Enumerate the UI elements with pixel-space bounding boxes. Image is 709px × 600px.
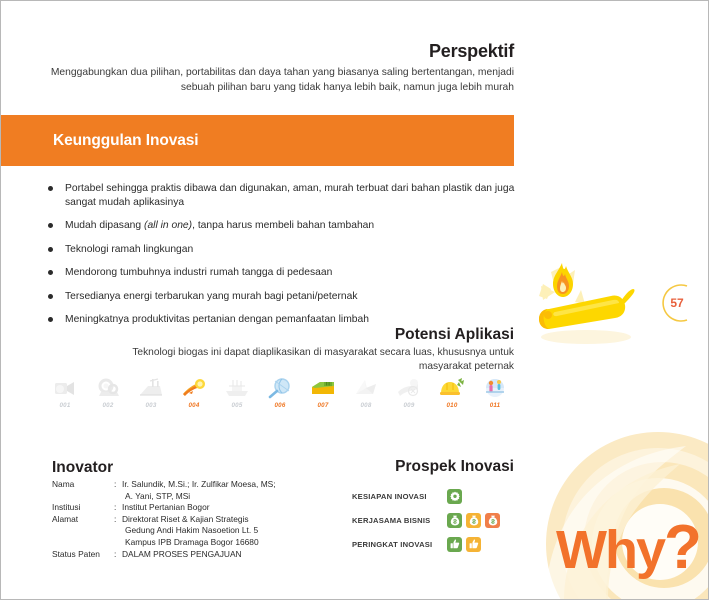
- prospek-row-label: PERINGKAT INOVASI: [352, 540, 447, 549]
- potensi-icon-number: 007: [303, 402, 343, 409]
- hardhat-recycle-icon: [432, 375, 472, 401]
- bullet-text: Meningkatnya produktivitas pertanian den…: [65, 314, 369, 325]
- thumbs-up-icon: [466, 537, 481, 552]
- money-bag-icon: [447, 513, 462, 528]
- potensi-icon-002: 002: [88, 375, 128, 415]
- inovator-row-label: [52, 491, 114, 503]
- inovator-row-separator: [114, 525, 122, 537]
- inovator-row-value: DALAM PROSES PENGAJUAN: [122, 549, 342, 561]
- inovator-row: Gedung Andi Hakim Nasoetion Lt. 5: [52, 525, 342, 537]
- inovator-row-separator: :: [114, 549, 122, 561]
- bullet-dot-icon: [48, 247, 53, 252]
- bullet-dot-icon: [48, 186, 53, 191]
- prospek-badge-group: [447, 489, 462, 504]
- inovator-row-value: Institut Pertanian Bogor: [122, 502, 342, 514]
- why-corner-graphic: Why?: [540, 422, 709, 600]
- potensi-icon-007: 007: [303, 375, 343, 415]
- potensi-icon-number: 005: [217, 402, 257, 409]
- page-number-value: 57: [656, 282, 698, 324]
- inovator-details-table: Nama:Ir. Salundik, M.Si.; Ir. Zulfikar M…: [52, 479, 342, 560]
- potensi-icon-003: 003: [131, 375, 171, 415]
- page-number: 57: [656, 282, 698, 324]
- perspektif-heading: Perspektif: [41, 41, 514, 62]
- inovator-row-separator: :: [114, 479, 122, 491]
- inovator-row-separator: [114, 491, 122, 503]
- potensi-icon-number: 010: [432, 402, 472, 409]
- potensi-icon-number: 003: [131, 402, 171, 409]
- prospek-row-label: KESIAPAN INOVASI: [352, 492, 447, 501]
- money-bag-icon: [485, 513, 500, 528]
- potensi-icon-005: 005: [217, 375, 257, 415]
- inovator-row-separator: [114, 537, 122, 549]
- potensi-icon-number: 001: [45, 402, 85, 409]
- people-community-icon: [475, 375, 515, 401]
- potensi-icon-number: 002: [88, 402, 128, 409]
- energy-comet-icon: [174, 375, 214, 401]
- prospek-row: PERINGKAT INOVASI: [352, 532, 517, 556]
- why-question-mark: ?: [664, 513, 700, 582]
- inovator-row-label: Status Paten: [52, 549, 114, 561]
- inovator-row-value: Ir. Salundik, M.Si.; Ir. Zulfikar Moesa,…: [122, 479, 342, 491]
- inovator-row: Alamat:Direktorat Riset & Kajian Strateg…: [52, 514, 342, 526]
- inovator-row: Institusi:Institut Pertanian Bogor: [52, 502, 342, 514]
- bullet-text: Teknologi ramah lingkungan: [65, 244, 193, 255]
- bullet-item: Mendorong tumbuhnya industri rumah tangg…: [45, 266, 515, 280]
- biogas-illustration: [529, 256, 649, 356]
- thumbs-up-icon: [447, 537, 462, 552]
- prospek-row: KESIAPAN INOVASI: [352, 484, 517, 508]
- inovator-row: A. Yani, STP, MSi: [52, 491, 342, 503]
- perspektif-paragraph: Menggabungkan dua pilihan, portabilitas …: [41, 65, 514, 95]
- documents-paper-icon: [346, 375, 386, 401]
- inovator-row: Status Paten:DALAM PROSES PENGAJUAN: [52, 549, 342, 561]
- ship-transport-icon: [217, 375, 257, 401]
- prospek-badge-group: [447, 537, 481, 552]
- potensi-icon-011: 011: [475, 375, 515, 415]
- bullet-item: Meningkatnya produktivitas pertanian den…: [45, 313, 515, 327]
- inovator-row-label: Institusi: [52, 502, 114, 514]
- prospek-rating-list: KESIAPAN INOVASIKERJASAMA BISNISPERINGKA…: [352, 484, 517, 556]
- bullet-dot-icon: [48, 294, 53, 299]
- potensi-icon-009: 009: [389, 375, 429, 415]
- agriculture-field-icon: [303, 375, 343, 401]
- gear-icon: [447, 489, 462, 504]
- inovator-row: Kampus IPB Dramaga Bogor 16680: [52, 537, 342, 549]
- bullet-dot-icon: [48, 317, 53, 322]
- potensi-icon-010: 010: [432, 375, 472, 415]
- magnifier-research-icon: [260, 375, 300, 401]
- prospek-badge-group: [447, 513, 500, 528]
- potensi-paragraph: Teknologi biogas ini dapat diaplikasikan…: [121, 346, 514, 374]
- inovator-row-separator: :: [114, 502, 122, 514]
- prospek-row: KERJASAMA BISNIS: [352, 508, 517, 532]
- inovator-row-label: Alamat: [52, 514, 114, 526]
- inovator-row-label: Nama: [52, 479, 114, 491]
- potensi-icon-008: 008: [346, 375, 386, 415]
- inovator-row: Nama:Ir. Salundik, M.Si.; Ir. Zulfikar M…: [52, 479, 342, 491]
- potensi-icon-number: 011: [475, 402, 515, 409]
- bullet-item: Portabel sehingga praktis dibawa dan dig…: [45, 182, 515, 209]
- prospek-row-label: KERJASAMA BISNIS: [352, 516, 447, 525]
- inovator-row-value: Gedung Andi Hakim Nasoetion Lt. 5: [122, 525, 342, 537]
- bullet-item: Tersedianya energi terbarukan yang murah…: [45, 290, 515, 304]
- keunggulan-bullet-list: Portabel sehingga praktis dibawa dan dig…: [45, 182, 515, 337]
- bullet-item: Mudah dipasang (all in one), tanpa harus…: [45, 219, 515, 233]
- inovator-row-value: Direktorat Riset & Kajian Strategis: [122, 514, 342, 526]
- inovator-row-label: [52, 525, 114, 537]
- potensi-icon-strip: 001002003004005006007008009010011: [45, 375, 515, 415]
- bullet-text: Portabel sehingga praktis dibawa dan dig…: [65, 183, 514, 208]
- prospek-heading: Prospek Inovasi: [341, 458, 514, 476]
- keunggulan-heading: Keunggulan Inovasi: [53, 132, 198, 150]
- potensi-icon-number: 009: [389, 402, 429, 409]
- potensi-heading: Potensi Aplikasi: [121, 326, 514, 344]
- inovator-row-separator: :: [114, 514, 122, 526]
- hand-service-icon: [389, 375, 429, 401]
- money-bag-icon: [466, 513, 481, 528]
- bullet-text: Tersedianya energi terbarukan yang murah…: [65, 291, 358, 302]
- potensi-icon-004: 004: [174, 375, 214, 415]
- bullet-text: Mendorong tumbuhnya industri rumah tangg…: [65, 267, 332, 278]
- document-page: Perspektif Menggabungkan dua pilihan, po…: [0, 0, 709, 600]
- bullet-text: Mudah dipasang (all in one), tanpa harus…: [65, 220, 374, 231]
- industry-factory-icon: [131, 375, 171, 401]
- bullet-dot-icon: [48, 223, 53, 228]
- inovator-row-value: Kampus IPB Dramaga Bogor 16680: [122, 537, 342, 549]
- potensi-icon-number: 008: [346, 402, 386, 409]
- inovator-row-label: [52, 537, 114, 549]
- inovator-row-value: A. Yani, STP, MSi: [122, 491, 342, 503]
- camera-media-icon: [45, 375, 85, 401]
- why-word: Why: [556, 520, 664, 580]
- potensi-icon-number: 004: [174, 402, 214, 409]
- potensi-icon-number: 006: [260, 402, 300, 409]
- potensi-icon-001: 001: [45, 375, 85, 415]
- gears-machinery-icon: [88, 375, 128, 401]
- bullet-dot-icon: [48, 270, 53, 275]
- why-logo-text: Why?: [556, 517, 700, 579]
- bullet-item: Teknologi ramah lingkungan: [45, 243, 515, 257]
- potensi-icon-006: 006: [260, 375, 300, 415]
- inovator-heading: Inovator: [52, 459, 113, 477]
